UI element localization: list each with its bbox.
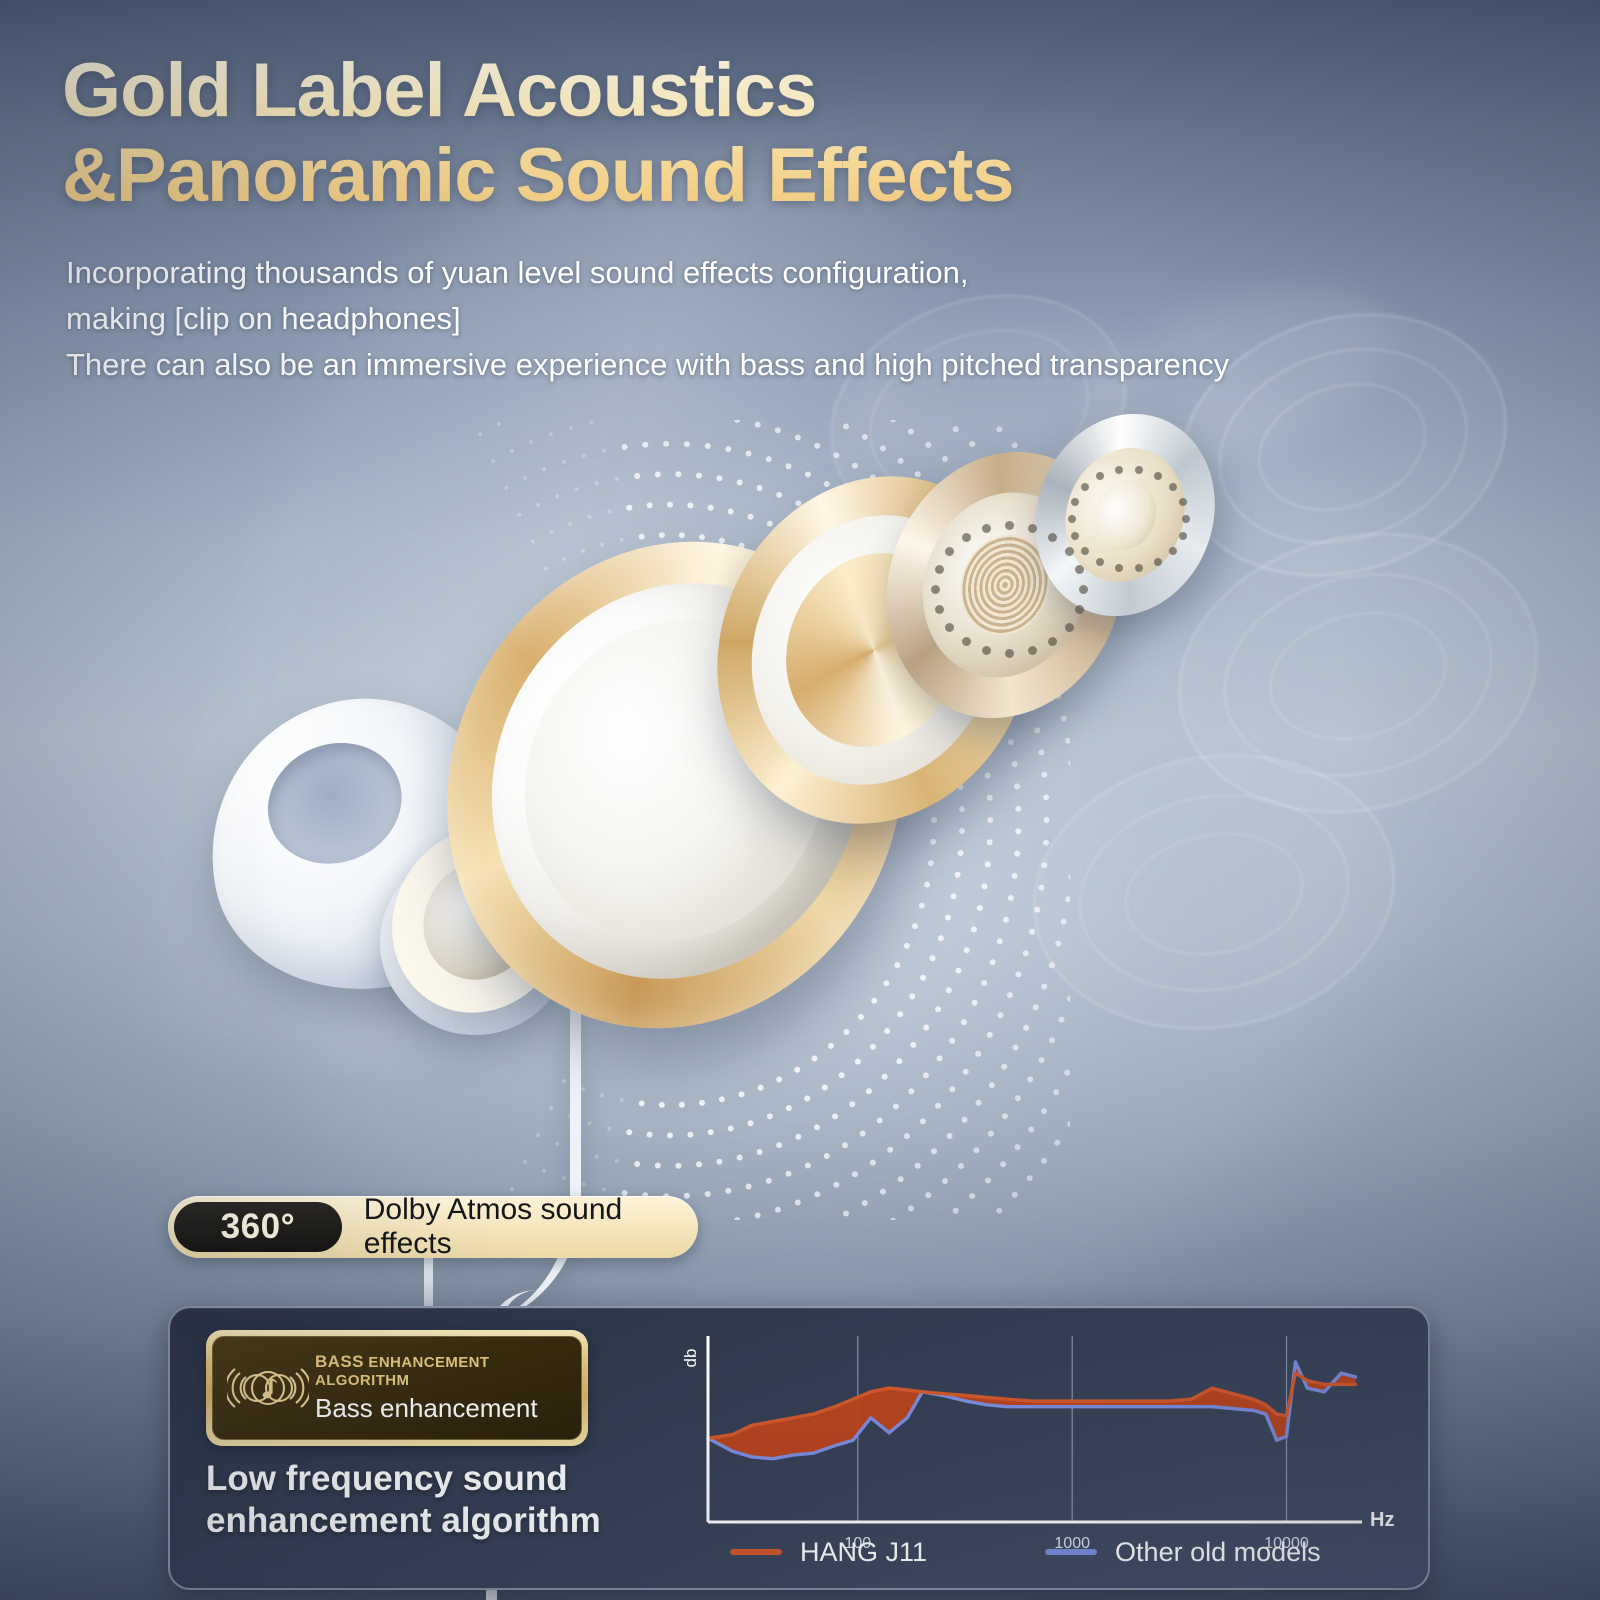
product-feature-banner: Gold Label Acoustics &Panoramic Sound Ef… — [0, 0, 1600, 1600]
vignette-overlay — [0, 0, 1600, 1600]
